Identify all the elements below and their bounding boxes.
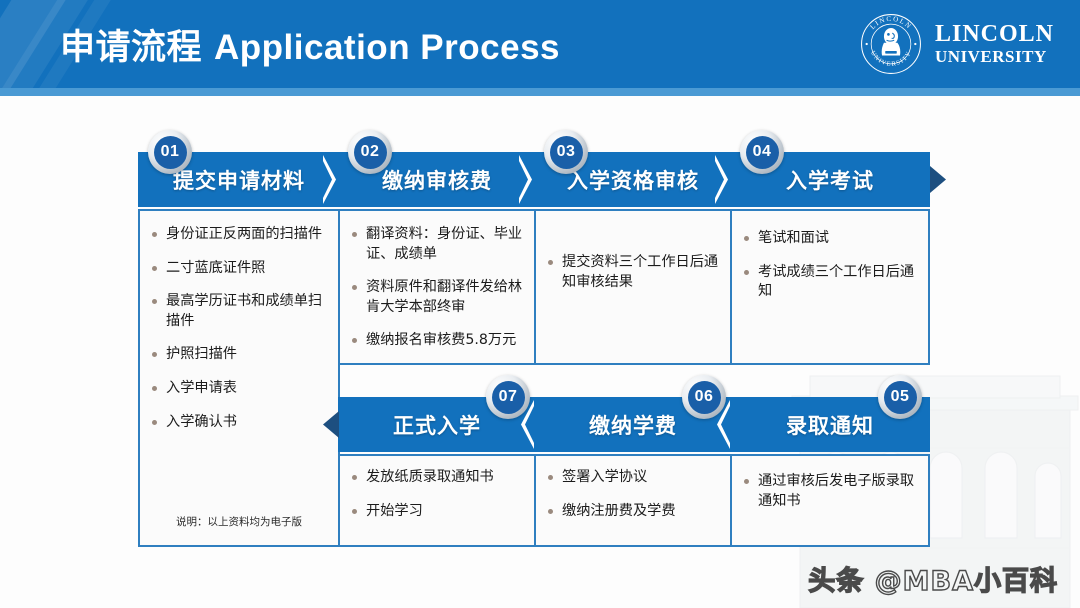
watermark-text: 头条 @MBA小百科 [808,559,1058,598]
step-badge-07: 07 [486,375,530,419]
step-title-02: 缴纳审核费 [382,165,492,195]
list-item: 发放纸质录取通知书 [350,468,524,488]
step-badge-02: 02 [348,130,392,174]
flow-arrow-end-icon [930,152,948,207]
step-badge-06: 06 [682,375,726,419]
university-seal-icon: LINCOLN UNIVERSITY [859,12,923,76]
slide-header: 申请流程Application Process LINCOLN UNIVERSI… [0,0,1080,88]
logo-wordmark: LINCOLN UNIVERSITY [935,22,1054,65]
list-item: 开始学习 [350,502,524,522]
step-bullets-04: 笔试和面试 考试成绩三个工作日后通知 [732,211,928,324]
list-item: 护照扫描件 [150,345,328,365]
step-number-06: 06 [688,381,721,414]
step-badge-05: 05 [878,375,922,419]
slide: 申请流程Application Process LINCOLN UNIVERSI… [0,0,1080,608]
list-item: 资料原件和翻译件发给林肯大学本部终审 [350,278,524,317]
step-badge-03: 03 [544,130,588,174]
list-item: 笔试和面试 [742,229,918,249]
logo-line1: LINCOLN [935,22,1054,47]
list-item: 入学申请表 [150,379,328,399]
page-title-cn: 申请流程 [60,28,202,67]
step-bullets-02: 翻译资料：身份证、毕业证、成绩单 资料原件和翻译件发给林肯大学本部终审 缴纳报名… [340,211,534,373]
step-content-07: 发放纸质录取通知书 开始学习 [338,454,536,547]
step-bullets-01: 身份证正反两面的扫描件 二寸蓝底证件照 最高学历证书和成绩单扫描件 护照扫描件 … [140,211,338,454]
step-bullets-06: 签署入学协议 缴纳注册费及学费 [536,456,730,543]
step-title-06: 缴纳学费 [589,410,677,440]
step-content-06: 签署入学协议 缴纳注册费及学费 [534,454,732,547]
application-process-flow: 01 提交申请材料 身份证正反两面的扫描件 二寸蓝底证件照 最高学历证书和成绩单… [138,130,948,555]
step-number-01: 01 [154,136,187,169]
step-title-05: 录取通知 [786,410,874,440]
step-number-02: 02 [354,136,387,169]
page-title-en: Application Process [214,28,560,67]
list-item: 缴纳注册费及学费 [546,502,720,522]
list-item: 最高学历证书和成绩单扫描件 [150,292,328,331]
page-title: 申请流程Application Process [60,19,560,70]
header-underline [0,88,1080,96]
step-content-03: 提交资料三个工作日后通知审核结果 [534,209,732,365]
step-number-03: 03 [550,136,583,169]
list-item: 入学确认书 [150,413,328,433]
step-bullets-07: 发放纸质录取通知书 开始学习 [340,456,534,543]
step-badge-01: 01 [148,130,192,174]
step-title-03: 入学资格审核 [567,165,699,195]
step-badge-04: 04 [740,130,784,174]
list-item: 通过审核后发电子版录取通知书 [742,472,918,511]
step-content-05: 通过审核后发电子版录取通知书 [730,454,930,547]
step-content-04: 笔试和面试 考试成绩三个工作日后通知 [730,209,930,365]
step-bullets-03: 提交资料三个工作日后通知审核结果 [536,211,730,314]
list-item: 缴纳报名审核费5.8万元 [350,331,524,351]
step-bullets-05: 通过审核后发电子版录取通知书 [732,456,928,533]
list-item: 提交资料三个工作日后通知审核结果 [546,253,720,292]
flow-arrow-end-left-icon [321,397,339,452]
list-item: 身份证正反两面的扫描件 [150,225,328,245]
step-number-05: 05 [884,381,917,414]
step-note-01: 说明：以上资料均为电子版 [140,514,338,529]
lincoln-university-logo: LINCOLN UNIVERSITY LINCOLN [859,12,1054,76]
step-content-02: 翻译资料：身份证、毕业证、成绩单 资料原件和翻译件发给林肯大学本部终审 缴纳报名… [338,209,536,365]
logo-line2: UNIVERSITY [935,48,1054,66]
step-title-04: 入学考试 [786,165,874,195]
list-item: 翻译资料：身份证、毕业证、成绩单 [350,225,524,264]
step-title-07: 正式入学 [393,410,481,440]
step-number-04: 04 [746,136,779,169]
list-item: 考试成绩三个工作日后通知 [742,263,918,302]
list-item: 签署入学协议 [546,468,720,488]
step-content-01: 身份证正反两面的扫描件 二寸蓝底证件照 最高学历证书和成绩单扫描件 护照扫描件 … [138,209,340,547]
list-item: 二寸蓝底证件照 [150,259,328,279]
step-number-07: 07 [492,381,525,414]
step-title-01: 提交申请材料 [173,165,305,195]
